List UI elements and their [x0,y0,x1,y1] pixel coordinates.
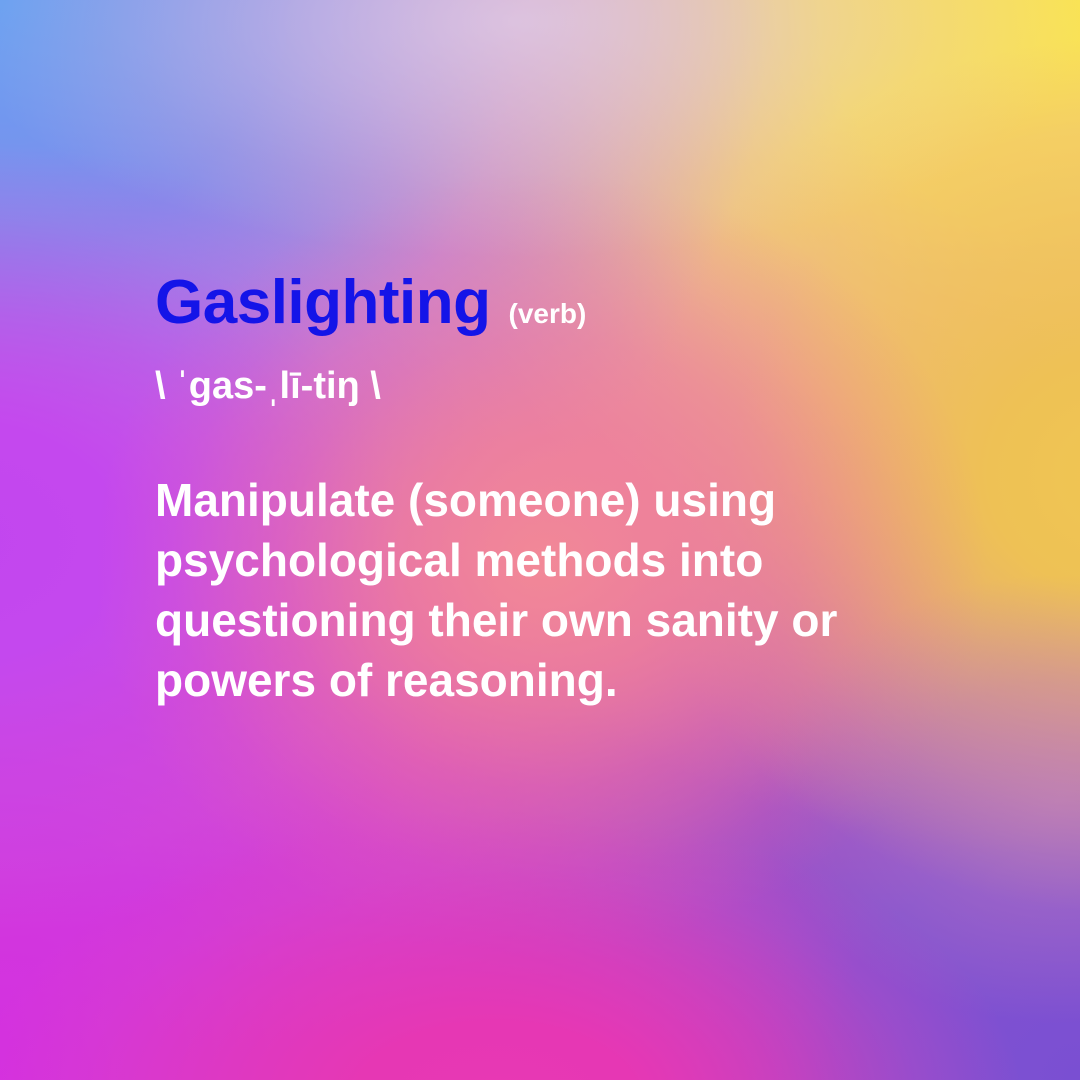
pronunciation: \ ˈgas-ˌlī-tiŋ \ [155,366,1015,408]
definition-text-block: Gaslighting (verb) \ ˈgas-ˌlī-tiŋ \ Mani… [155,272,1015,710]
part-of-speech-label: (verb) [509,300,587,328]
definition-card: Gaslighting (verb) \ ˈgas-ˌlī-tiŋ \ Mani… [0,0,1080,1080]
headword-row: Gaslighting (verb) [155,272,1015,344]
headword: Gaslighting [155,272,491,334]
definition-text: Manipulate (someone) using psychological… [155,470,945,710]
